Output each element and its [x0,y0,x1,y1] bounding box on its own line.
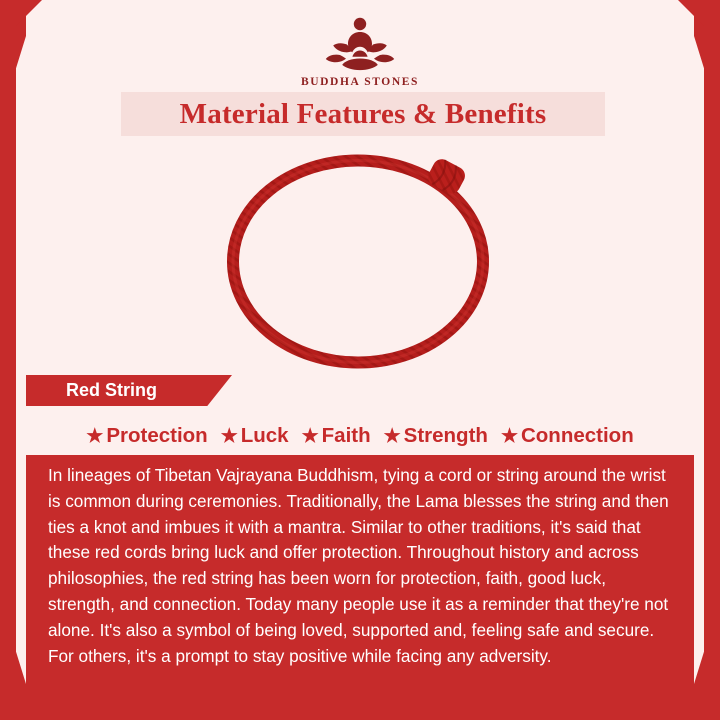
page-title-bar: Material Features & Benefits [121,92,605,136]
keyword-list: ★ Protection ★ Luck ★ Faith ★ Strength ★… [26,418,694,454]
star-icon: ★ [501,427,518,446]
decorative-left-band [0,0,16,720]
page-title: Material Features & Benefits [180,98,547,131]
keyword-label: Luck [241,424,289,448]
product-label-ribbon: Red String [26,375,232,406]
keyword-label: Faith [322,424,371,448]
keyword-label: Connection [521,424,634,448]
red-braided-string-bracelet-icon [210,145,510,370]
description-text: In lineages of Tibetan Vajrayana Buddhis… [48,463,672,669]
product-label: Red String [26,380,157,401]
brand-name: BUDDHA STONES [0,76,720,88]
star-icon: ★ [302,427,319,446]
keyword-label: Protection [106,424,207,448]
keyword-label: Strength [404,424,488,448]
lotus-meditation-icon [0,12,720,74]
keyword-item: ★ Connection [501,424,634,448]
description-block: In lineages of Tibetan Vajrayana Buddhis… [26,455,694,720]
star-icon: ★ [221,427,238,446]
product-image [26,140,694,375]
star-icon: ★ [86,427,103,446]
keyword-item: ★ Faith [302,424,381,448]
keyword-item: ★ Protection [86,424,217,448]
star-icon: ★ [384,427,401,446]
keyword-item: ★ Strength [384,424,498,448]
brand-logo: BUDDHA STONES [0,12,720,88]
keyword-item: ★ Luck [221,424,299,448]
infographic-page: BUDDHA STONES Material Features & Benefi… [0,0,720,720]
decorative-right-band [704,0,720,720]
